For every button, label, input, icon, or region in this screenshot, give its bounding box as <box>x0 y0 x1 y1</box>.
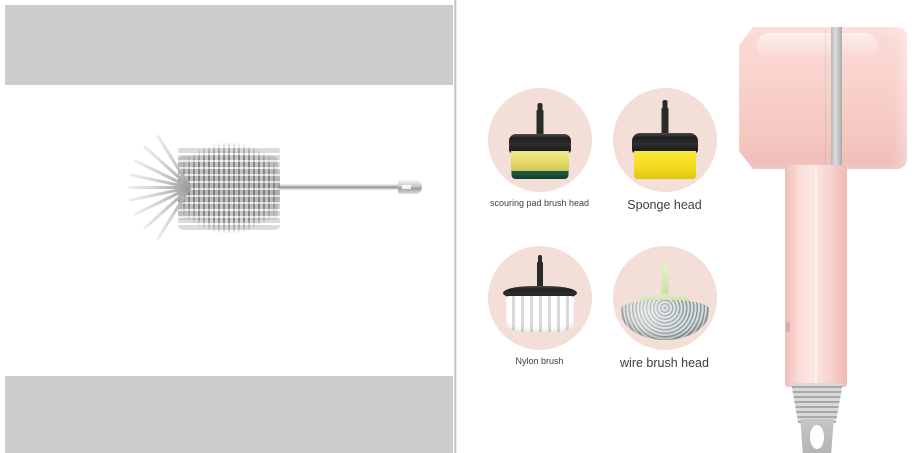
attachment-stem <box>661 264 668 298</box>
bottom-gray-letterbox-band <box>5 376 453 453</box>
scouring-pad-brush-head-icon <box>488 88 592 192</box>
head-highlight <box>757 33 877 59</box>
handheld-electric-cleaning-brush-icon <box>729 27 909 427</box>
attachment-row-top: scouring pad brush head Sponge head <box>477 88 727 212</box>
sponge-head-icon <box>613 88 717 192</box>
steel-mesh-dome <box>621 300 709 340</box>
attachment-black-cap <box>632 133 698 153</box>
attachment-label: scouring pad brush head <box>477 198 602 208</box>
handle-seam-line <box>815 169 817 385</box>
yellow-sponge-body <box>634 151 696 179</box>
gray-accent-band <box>831 27 842 169</box>
attachment-label: wire brush head <box>602 356 727 370</box>
brush-barrel-bristle-rows <box>178 146 280 230</box>
attachment-label: Sponge head <box>602 198 727 212</box>
motor-head <box>739 27 907 169</box>
yellow-sponge-body <box>511 151 569 172</box>
head-seam-line <box>825 29 826 167</box>
attachment-cell-scouring-pad: scouring pad brush head <box>477 88 602 212</box>
attachment-stem <box>537 262 543 288</box>
hex-drill-connector <box>398 180 422 194</box>
attachment-row-bottom: Nylon brush wire brush head <box>477 246 727 370</box>
attachment-cell-nylon-brush: Nylon brush <box>477 246 602 370</box>
left-product-panel <box>0 0 456 453</box>
green-scouring-pad <box>511 171 568 179</box>
bottle-brush-icon <box>78 142 428 234</box>
top-gray-letterbox-band <box>5 5 453 85</box>
wire-brush-head-icon <box>613 246 717 350</box>
brush-metal-shaft <box>274 184 416 190</box>
handle-side-detail <box>786 322 790 332</box>
right-product-panel: scouring pad brush head Sponge head <box>457 0 919 453</box>
nylon-brush-head-icon <box>488 246 592 350</box>
white-nylon-bristles <box>506 296 574 332</box>
hanging-loop-hole <box>810 425 824 449</box>
product-image-screenshot: scouring pad brush head Sponge head <box>0 0 919 453</box>
splayed-tip-bristles <box>84 154 188 222</box>
attachment-head-grid: scouring pad brush head Sponge head <box>477 88 727 370</box>
ribbed-gray-end-cap <box>791 383 843 423</box>
attachment-label: Nylon brush <box>477 356 602 366</box>
attachment-cell-wire-brush: wire brush head <box>602 246 727 370</box>
attachment-cell-sponge-head: Sponge head <box>602 88 727 212</box>
